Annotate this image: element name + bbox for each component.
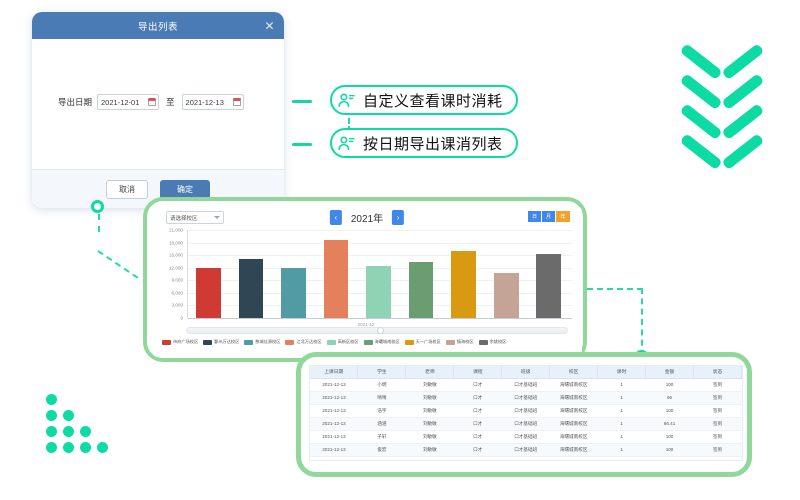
end-date-input[interactable]: 2021-12-13 (182, 94, 244, 110)
decorative-dot (97, 442, 108, 453)
campus-select[interactable]: 请选择校区 (166, 211, 224, 224)
table-cell: 刘敏敏 (406, 378, 454, 391)
bar-column[interactable] (187, 230, 230, 318)
anchor-dot-dialog (91, 200, 104, 213)
table-cell: 涵涵 (358, 417, 406, 430)
connector-line-bottom (292, 143, 312, 146)
legend-swatch (203, 340, 212, 345)
table-column-header: 金额 (646, 366, 694, 378)
table-column-header: 课程 (454, 366, 502, 378)
legend-item[interactable]: 高新区校区 (327, 339, 359, 345)
bar-column[interactable] (485, 230, 528, 318)
table-cell: 2021-12-13 (310, 404, 358, 417)
callout-text-2: 按日期导出课消列表 (363, 133, 503, 154)
table-cell: 刘敏敏 (406, 417, 454, 430)
dialog-title: 导出列表 (138, 19, 178, 33)
y-axis-tick: 3,000 (172, 303, 184, 308)
table-cell: 小明 (358, 378, 406, 391)
dialog-title-bar: 导出列表 ✕ (32, 12, 284, 39)
legend-swatch (162, 340, 171, 345)
legend-label: 高新区校区 (338, 339, 359, 345)
legend-label: 天一广场校区 (416, 339, 441, 345)
table-cell: 1 (598, 404, 646, 417)
close-icon[interactable]: ✕ (264, 20, 275, 32)
legend-item[interactable]: 市府广场校区 (162, 339, 198, 345)
legend-label: 镇海校区 (457, 339, 474, 345)
range-toggle-group: 日月年 (528, 211, 570, 222)
legend-label: 慈城佳源校区 (255, 339, 280, 345)
connector-line-top (292, 100, 312, 103)
decorative-dot (63, 410, 74, 421)
decorative-dot (46, 426, 57, 437)
table-cell: 1 (598, 417, 646, 430)
table-column-header: 老师 (406, 366, 454, 378)
table-cell: 96 (646, 391, 694, 404)
table-cell: 口才基础班 (502, 417, 550, 430)
next-year-button[interactable]: › (392, 210, 404, 225)
table-cell: 签到 (694, 391, 742, 404)
table-cell: 刘敏敏 (406, 404, 454, 417)
chart-bars (187, 230, 570, 318)
table-cell: 1 (598, 430, 646, 443)
table-cell: 1 (598, 378, 646, 391)
bar[interactable] (281, 268, 306, 318)
bar-column[interactable] (272, 230, 315, 318)
table-cell: 签到 (694, 443, 742, 456)
table-cell: 晴晴 (358, 391, 406, 404)
gridline (188, 318, 572, 319)
table-cell: 口才 (454, 378, 502, 391)
table-cell: 签到 (694, 404, 742, 417)
end-date-value: 2021-12-13 (186, 98, 233, 107)
table-row[interactable]: 2021-12-13俊宏刘敏敏口才口才基础班海曙城南校区1100签到 (310, 443, 742, 456)
connector-dialog-down (98, 214, 100, 232)
range-button-0[interactable]: 日 (528, 211, 542, 222)
table-cell: 口才 (454, 430, 502, 443)
dialog-body: 导出日期 2021-12-01 至 2021-12-13 (32, 39, 284, 169)
table-column-header: 校区 (550, 366, 598, 378)
bar-column[interactable] (230, 230, 273, 318)
callout-pill-2: 按日期导出课消列表 (330, 128, 518, 158)
table-cell: 1 (598, 443, 646, 456)
table-cell: 子轩 (358, 430, 406, 443)
table-row[interactable]: 2021-12-13浩宇刘敏敏口才口才基础班海曙城南校区1100签到 (310, 404, 742, 417)
table-cell: 海曙城南校区 (550, 404, 598, 417)
table-column-header: 状态 (694, 366, 742, 378)
legend-swatch (479, 340, 488, 345)
decorative-dot (46, 442, 57, 453)
decorative-dot (46, 410, 57, 421)
table-cell: 100 (646, 430, 694, 443)
bar[interactable] (366, 266, 391, 318)
legend-swatch (244, 340, 253, 345)
table-cell: 66.41 (646, 417, 694, 430)
table-cell: 口才基础班 (502, 391, 550, 404)
bar-column[interactable] (357, 230, 400, 318)
legend-swatch (327, 340, 336, 345)
decorative-dot (63, 426, 74, 437)
bar[interactable] (451, 251, 476, 318)
decorative-dots (46, 394, 136, 456)
y-axis-tick: 12,000 (169, 265, 183, 270)
table-column-header: 班级 (502, 366, 550, 378)
table-cell: 2021-12-13 (310, 430, 358, 443)
chart-legend: 市府广场校区鄞州万达校区慈城佳源校区江北万达校区高新区校区海曙城南校区天一广场校… (152, 334, 582, 345)
chart-scrollbar[interactable] (186, 327, 568, 334)
export-dialog: 导出列表 ✕ 导出日期 2021-12-01 至 2021-12-13 (32, 12, 284, 208)
table-row[interactable]: 2021-12-13涵涵刘敏敏口才口才基础班海曙城南校区166.41签到 (310, 417, 742, 430)
y-axis-tick: 9,000 (172, 278, 184, 283)
decorative-dot (63, 442, 74, 453)
connector-chart-table (641, 288, 643, 356)
y-axis-tick: 21,000 (169, 228, 183, 233)
bar-column[interactable] (442, 230, 485, 318)
y-axis-tick: 0 (180, 316, 183, 321)
person-check-icon (336, 90, 357, 111)
bar[interactable] (324, 240, 349, 318)
table-row[interactable]: 2021-12-13晴晴刘敏敏口才口才基础班海曙城南校区196签到 (310, 391, 742, 404)
chevron-down-icon (214, 216, 220, 219)
table-cell: 海曙城南校区 (550, 378, 598, 391)
table-cell: 2021-12-13 (310, 378, 358, 391)
bar-column[interactable] (528, 230, 571, 318)
prev-year-button[interactable]: ‹ (330, 210, 342, 225)
table-cell: 2021-12-13 (310, 417, 358, 430)
export-date-row: 导出日期 2021-12-01 至 2021-12-13 (58, 94, 244, 110)
bar[interactable] (494, 273, 519, 318)
legend-item[interactable]: 镇海校区 (446, 339, 474, 345)
table-column-header: 课时 (598, 366, 646, 378)
table-cell: 口才基础班 (502, 430, 550, 443)
connector-chart-right (587, 288, 643, 290)
callout-text-1: 自定义查看课时消耗 (363, 90, 503, 111)
table-cell: 海曙城南校区 (550, 391, 598, 404)
scrollbar-knob[interactable] (377, 327, 384, 334)
table-cell: 浩宇 (358, 404, 406, 417)
legend-label: 余姚校区 (490, 339, 507, 345)
table-cell: 刘敏敏 (406, 430, 454, 443)
legend-swatch (285, 340, 294, 345)
table-cell: 口才基础班 (502, 443, 550, 456)
year-navigator: ‹ 2021年 › (330, 210, 404, 225)
table-cell: 签到 (694, 417, 742, 430)
table-row[interactable]: 2021-12-13子轩刘敏敏口才口才基础班海曙城南校区1100签到 (310, 430, 742, 443)
decorative-dot (80, 442, 91, 453)
table-cell: 100 (646, 378, 694, 391)
table-body: 2021-12-13小明刘敏敏口才口才基础班海曙城南校区1100签到2021-1… (310, 378, 742, 456)
table: 上课日期学生老师课程班级校区课时金额状态 2021-12-13小明刘敏敏口才口才… (310, 366, 742, 457)
bar[interactable] (536, 254, 561, 318)
y-axis: 21,00018,00015,00012,0009,0006,0003,0000 (160, 230, 186, 318)
table-cell: 签到 (694, 378, 742, 391)
table-cell: 海曙城南校区 (550, 443, 598, 456)
table-cell: 1 (598, 391, 646, 404)
start-date-value: 2021-12-01 (101, 98, 148, 107)
cancel-button[interactable]: 取消 (106, 180, 148, 199)
range-button-2[interactable]: 年 (556, 211, 570, 222)
legend-item[interactable]: 海曙城南校区 (364, 339, 400, 345)
y-axis-tick: 18,000 (169, 240, 183, 245)
table-cell: 100 (646, 404, 694, 417)
table-cell: 2021-12-13 (310, 391, 358, 404)
table-cell: 口才 (454, 404, 502, 417)
bar[interactable] (239, 259, 264, 318)
legend-item[interactable]: 慈城佳源校区 (244, 339, 280, 345)
confirm-button[interactable]: 确定 (160, 180, 210, 199)
legend-item[interactable]: 江北万达校区 (285, 339, 321, 345)
decorative-chevrons (683, 38, 778, 178)
decorative-dot (80, 426, 91, 437)
table-cell: 口才基础班 (502, 404, 550, 417)
y-axis-tick: 6,000 (172, 290, 184, 295)
callout-pill-1: 自定义查看课时消耗 (330, 85, 518, 115)
table-cell: 刘敏敏 (406, 443, 454, 456)
date-separator: 至 (166, 96, 175, 108)
legend-label: 江北万达校区 (296, 339, 321, 345)
export-date-label: 导出日期 (58, 96, 92, 108)
table-cell: 俊宏 (358, 443, 406, 456)
legend-item[interactable]: 天一广场校区 (405, 339, 441, 345)
connector-dialog-chart (97, 250, 138, 278)
decorative-dot (46, 394, 57, 405)
table-cell: 海曙城南校区 (550, 430, 598, 443)
start-date-input[interactable]: 2021-12-01 (97, 94, 159, 110)
calendar-icon[interactable] (148, 98, 156, 106)
bar[interactable] (196, 268, 221, 318)
legend-item[interactable]: 余姚校区 (479, 339, 507, 345)
y-axis-tick: 15,000 (169, 253, 183, 258)
legend-label: 市府广场校区 (173, 339, 198, 345)
table-cell: 100 (646, 443, 694, 456)
bar-column[interactable] (400, 230, 443, 318)
table-column-header: 学生 (358, 366, 406, 378)
table-header-row: 上课日期学生老师课程班级校区课时金额状态 (310, 366, 742, 378)
calendar-icon[interactable] (233, 98, 241, 106)
legend-swatch (405, 340, 414, 345)
table-row[interactable]: 2021-12-13小明刘敏敏口才口才基础班海曙城南校区1100签到 (310, 378, 742, 391)
range-button-1[interactable]: 月 (542, 211, 556, 222)
bar-column[interactable] (315, 230, 358, 318)
campus-select-value: 请选择校区 (170, 214, 214, 222)
table-cell: 口才 (454, 391, 502, 404)
table-panel-frame: 上课日期学生老师课程班级校区课时金额状态 2021-12-13小明刘敏敏口才口才… (296, 352, 752, 477)
legend-item[interactable]: 鄞州万达校区 (203, 339, 239, 345)
table-column-header: 上课日期 (310, 366, 358, 378)
bar[interactable] (409, 262, 434, 318)
export-dialog-frame: 导出列表 ✕ 导出日期 2021-12-01 至 2021-12-13 (32, 12, 284, 208)
chart-toolbar: 请选择校区 ‹ 2021年 › 日月年 (152, 206, 582, 230)
person-check-icon (336, 133, 357, 154)
chart-panel-frame: 请选择校区 ‹ 2021年 › 日月年 21,00018,00015,00012… (143, 197, 587, 362)
table-cell: 签到 (694, 430, 742, 443)
class-consumption-table: 上课日期学生老师课程班级校区课时金额状态 2021-12-13小明刘敏敏口才口才… (309, 365, 743, 461)
poster-canvas: 导出列表 ✕ 导出日期 2021-12-01 至 2021-12-13 (0, 0, 800, 500)
table-cell: 刘敏敏 (406, 391, 454, 404)
legend-label: 海曙城南校区 (375, 339, 400, 345)
chart-plot-area: 21,00018,00015,00012,0009,0006,0003,0000… (160, 230, 572, 318)
legend-swatch (446, 340, 455, 345)
table-cell: 2021-12-13 (310, 443, 358, 456)
legend-swatch (364, 340, 373, 345)
year-label: 2021年 (351, 210, 383, 225)
table-cell: 口才 (454, 443, 502, 456)
table-cell: 口才 (454, 417, 502, 430)
table-cell: 口才基础班 (502, 378, 550, 391)
chevron-down-icon (683, 128, 761, 170)
chart-panel: 请选择校区 ‹ 2021年 › 日月年 21,00018,00015,00012… (152, 206, 582, 357)
table-cell: 海曙城南校区 (550, 417, 598, 430)
legend-label: 鄞州万达校区 (214, 339, 239, 345)
